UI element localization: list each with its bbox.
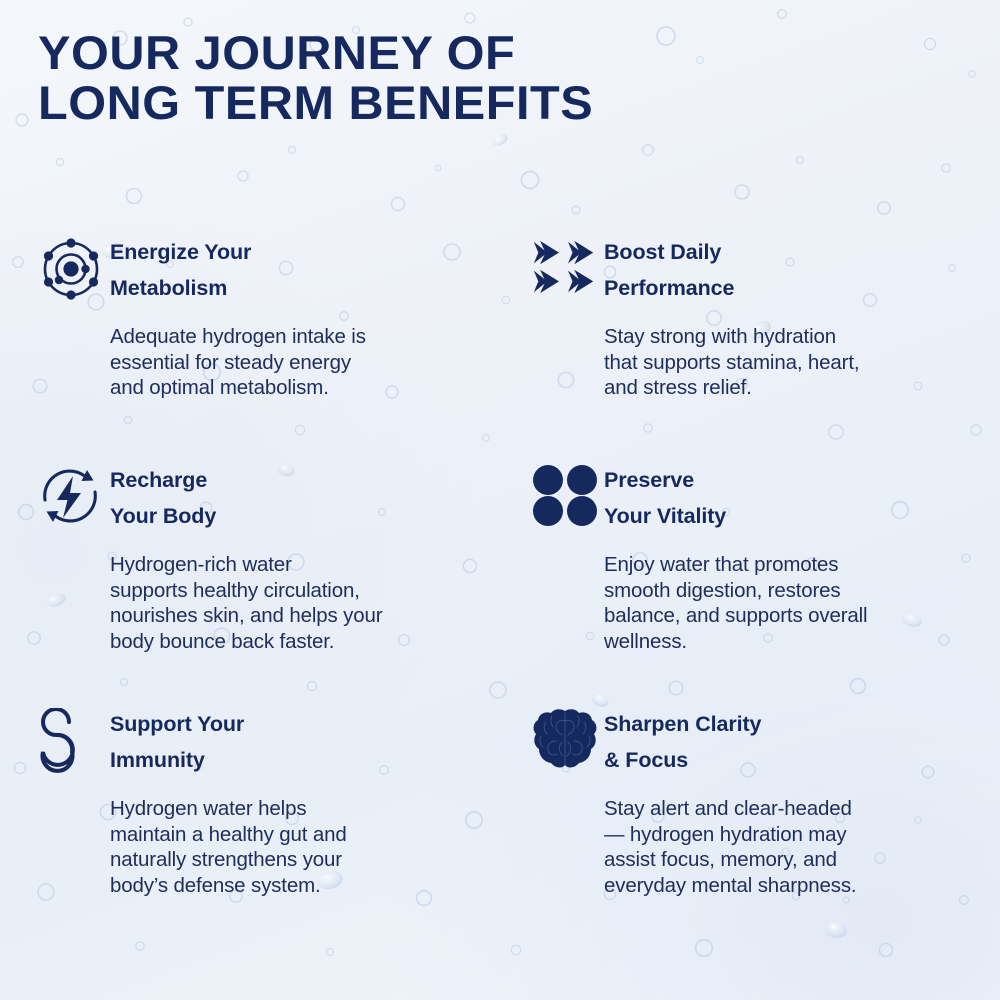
recharge-bolt-icon xyxy=(38,460,110,532)
benefit-title: Boost Daily Performance xyxy=(604,234,1000,306)
benefit-title: Preserve Your Vitality xyxy=(604,462,1000,534)
benefit-item-boost-daily-performance: Boost Daily Performance Stay strong with… xyxy=(500,232,1000,460)
infinity-loop-icon xyxy=(38,704,110,776)
benefit-title: Recharge Your Body xyxy=(110,462,500,534)
benefits-grid: Energize Your Metabolism Adequate hydrog… xyxy=(0,232,1000,944)
benefit-text: Support Your Immunity Hydrogen water hel… xyxy=(110,704,500,898)
benefit-item-sharpen-clarity-and-focus: Sharpen Clarity & Focus Stay alert and c… xyxy=(500,704,1000,944)
title-line-1: YOUR JOURNEY OF xyxy=(38,28,763,78)
brain-icon xyxy=(532,704,604,776)
double-chevrons-icon xyxy=(532,232,604,304)
benefit-description: Hydrogen-rich water supports healthy cir… xyxy=(110,552,500,654)
benefit-text: Boost Daily Performance Stay strong with… xyxy=(604,232,1000,401)
benefit-title: Support Your Immunity xyxy=(110,706,500,778)
benefits-row: Support Your Immunity Hydrogen water hel… xyxy=(0,704,1000,944)
benefit-description: Enjoy water that promotes smooth digesti… xyxy=(604,552,1000,654)
benefit-item-energize-your-metabolism: Energize Your Metabolism Adequate hydrog… xyxy=(0,232,500,460)
benefit-text: Preserve Your Vitality Enjoy water that … xyxy=(604,460,1000,654)
benefit-text: Sharpen Clarity & Focus Stay alert and c… xyxy=(604,704,1000,898)
benefit-description: Hydrogen water helps maintain a healthy … xyxy=(110,796,500,898)
benefits-row: Recharge Your Body Hydrogen-rich water s… xyxy=(0,460,1000,704)
benefit-item-recharge-your-body: Recharge Your Body Hydrogen-rich water s… xyxy=(0,460,500,704)
page-title: YOUR JOURNEY OF LONG TERM BENEFITS xyxy=(38,28,738,128)
benefit-description: Adequate hydrogen intake is essential fo… xyxy=(110,324,500,401)
benefit-item-preserve-your-vitality: Preserve Your Vitality Enjoy water that … xyxy=(500,460,1000,704)
benefit-item-support-your-immunity: Support Your Immunity Hydrogen water hel… xyxy=(0,704,500,944)
benefit-description: Stay strong with hydration that supports… xyxy=(604,324,1000,401)
benefits-row: Energize Your Metabolism Adequate hydrog… xyxy=(0,232,1000,460)
benefit-text: Energize Your Metabolism Adequate hydrog… xyxy=(110,232,500,401)
atom-icon xyxy=(38,232,110,304)
benefit-text: Recharge Your Body Hydrogen-rich water s… xyxy=(110,460,500,654)
benefits-poster: YOUR JOURNEY OF LONG TERM BENEFITS xyxy=(0,0,1000,1000)
benefit-description: Stay alert and clear-headed — hydrogen h… xyxy=(604,796,1000,898)
benefit-title: Energize Your Metabolism xyxy=(110,234,500,306)
four-circles-icon xyxy=(532,460,604,532)
benefit-title: Sharpen Clarity & Focus xyxy=(604,706,1000,778)
title-line-2: LONG TERM BENEFITS xyxy=(38,78,763,128)
